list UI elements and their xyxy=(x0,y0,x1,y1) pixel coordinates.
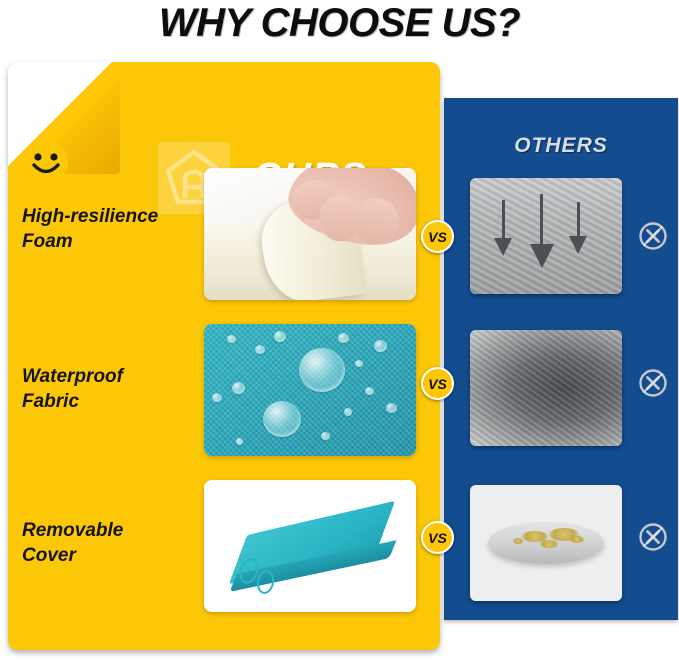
vs-badge-removable: VS xyxy=(421,521,454,554)
feature-label-foam-line1: High-resilience xyxy=(22,204,202,229)
vs-badge-foam: VS xyxy=(421,220,454,253)
feature-label-foam: High-resilience Foam xyxy=(22,204,202,254)
ours-image-removable xyxy=(204,480,416,612)
feature-label-removable-line1: Removable xyxy=(22,518,202,543)
others-image-foam xyxy=(470,178,622,294)
feature-label-waterproof-line2: Fabric xyxy=(22,389,202,414)
ours-image-foam xyxy=(204,168,416,300)
page-title: WHY CHOOSE US? xyxy=(0,0,679,46)
ours-image-waterproof xyxy=(204,324,416,456)
smiley-face-icon xyxy=(22,138,70,186)
others-image-removable xyxy=(470,485,622,601)
x-circle-icon-waterproof xyxy=(638,368,668,398)
vs-badge-waterproof: VS xyxy=(421,367,454,400)
feature-label-removable-line2: Cover xyxy=(22,543,202,568)
feature-label-waterproof-line1: Waterproof xyxy=(22,364,202,389)
feature-label-waterproof: Waterproof Fabric xyxy=(22,364,202,414)
others-panel-title: OTHERS xyxy=(444,134,678,158)
x-circle-icon-foam xyxy=(638,221,668,251)
others-image-waterproof xyxy=(470,330,622,446)
feature-label-removable: Removable Cover xyxy=(22,518,202,568)
x-circle-icon-removable xyxy=(638,522,668,552)
feature-label-foam-line2: Foam xyxy=(22,229,202,254)
